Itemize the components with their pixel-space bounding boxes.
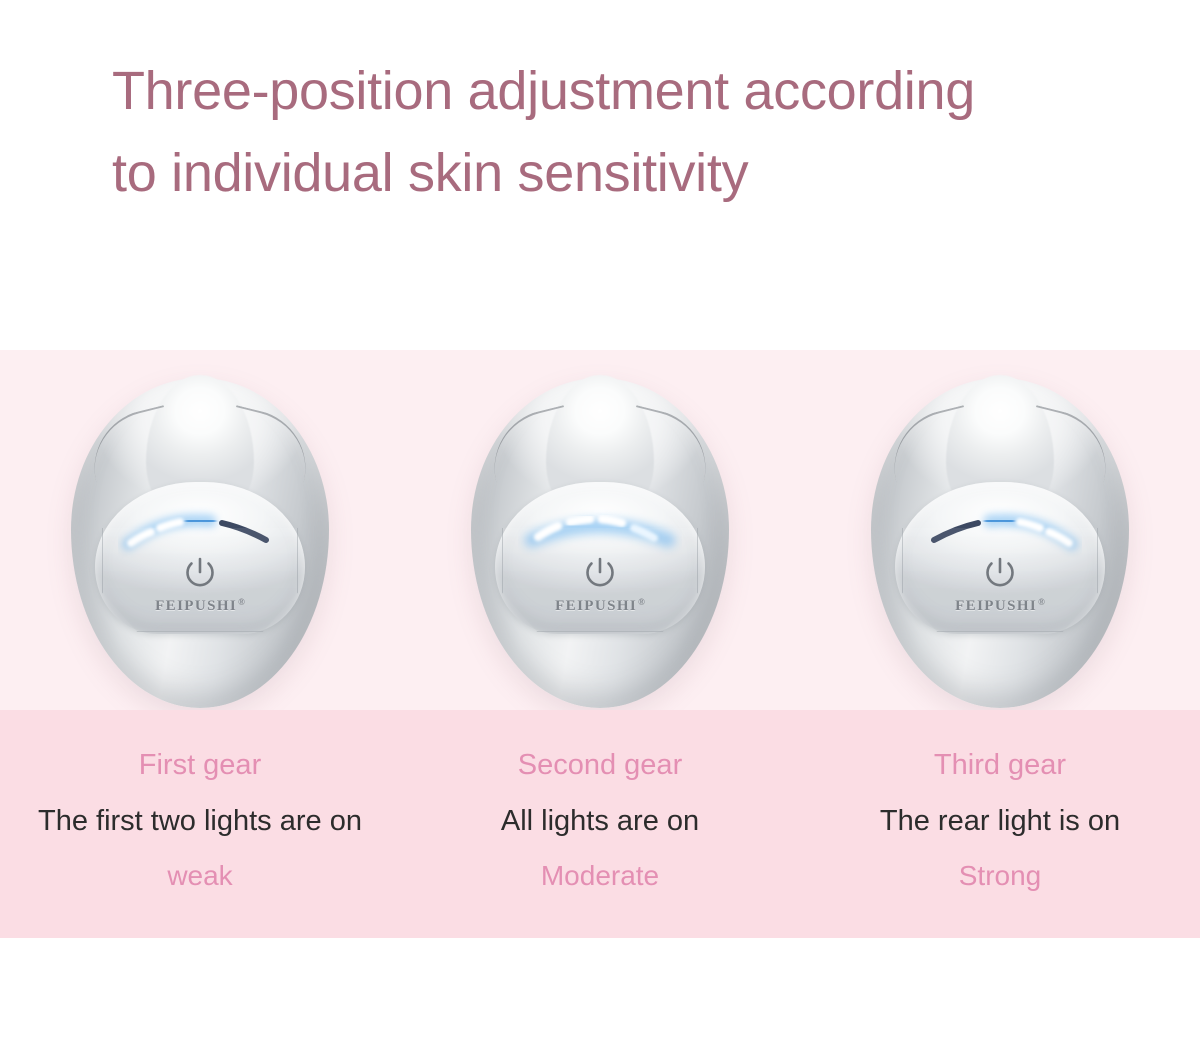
caption-band: First gear The first two lights are on w…	[0, 710, 1200, 938]
device-cell-third-gear: FEIPUSHI ®	[800, 350, 1200, 710]
heading-band: Three-position adjustment according to i…	[0, 0, 1200, 350]
device-row: FEIPUSHI ®	[0, 350, 1200, 710]
device-cell-second-gear: FEIPUSHI ®	[400, 350, 800, 710]
device-third-gear: FEIPUSHI ®	[871, 378, 1129, 708]
device-faceplate-bevel	[902, 528, 1098, 632]
gear-level: Moderate	[400, 860, 800, 892]
gear-level: Strong	[800, 860, 1200, 892]
product-infographic: Three-position adjustment according to i…	[0, 0, 1200, 1038]
gear-title: Third gear	[800, 748, 1200, 782]
device-faceplate-bevel	[502, 528, 698, 632]
heading-line-1: Three-position adjustment according	[112, 50, 1200, 132]
gear-title: Second gear	[400, 748, 800, 782]
caption-row: First gear The first two lights are on w…	[0, 710, 1200, 938]
product-image-band: FEIPUSHI ®	[0, 350, 1200, 710]
gear-description: The first two lights are on	[0, 804, 400, 838]
gear-title: First gear	[0, 748, 400, 782]
gear-level: weak	[0, 860, 400, 892]
device-second-gear: FEIPUSHI ®	[471, 378, 729, 708]
device-first-gear: FEIPUSHI ®	[71, 378, 329, 708]
device-cell-first-gear: FEIPUSHI ®	[0, 350, 400, 710]
caption-first-gear: First gear The first two lights are on w…	[0, 710, 400, 938]
caption-second-gear: Second gear All lights are on Moderate	[400, 710, 800, 938]
gear-description: The rear light is on	[800, 804, 1200, 838]
device-faceplate-bevel	[102, 528, 298, 632]
heading-line-2: to individual skin sensitivity	[112, 132, 1200, 214]
caption-third-gear: Third gear The rear light is on Strong	[800, 710, 1200, 938]
bottom-white-band	[0, 938, 1200, 1038]
gear-description: All lights are on	[400, 804, 800, 838]
